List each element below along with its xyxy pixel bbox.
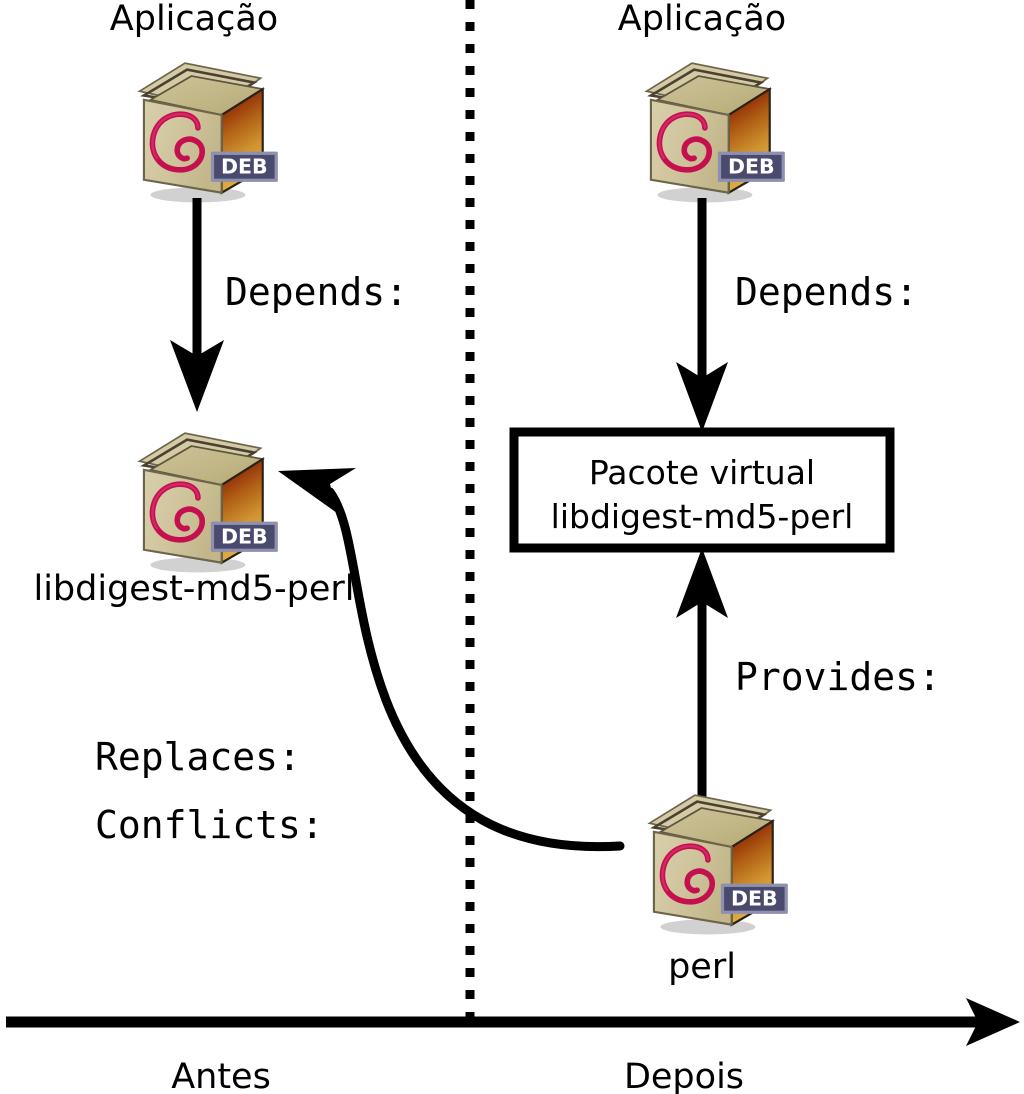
diagram-svg: DEB	[0, 0, 1024, 1094]
package-icon-app-before	[140, 63, 278, 202]
label-depends-after: Depends:	[735, 270, 918, 314]
label-depends-before: Depends:	[225, 270, 408, 314]
package-icon-app-after	[647, 63, 785, 202]
package-icon-libdigest-before	[140, 433, 278, 572]
arrow-depends-before	[170, 198, 224, 412]
label-timeline-before: Antes	[171, 1057, 271, 1094]
label-timeline-after: Depois	[624, 1057, 744, 1094]
diagram-canvas: DEB	[0, 0, 1024, 1094]
label-provides: Provides:	[735, 655, 941, 699]
arrow-provides	[676, 548, 728, 800]
timeline-axis	[6, 998, 1020, 1046]
label-virtual-package-line2: libdigest-md5-perl	[551, 497, 854, 536]
label-perl: perl	[668, 947, 736, 987]
label-application-before: Aplicação	[110, 0, 278, 39]
arrow-depends-after	[676, 198, 728, 432]
package-icon-perl	[650, 795, 788, 934]
label-application-after: Aplicação	[618, 0, 786, 39]
label-libdigest-md5-perl-before: libdigest-md5-perl	[33, 569, 354, 609]
label-replaces: Replaces:	[95, 735, 301, 779]
label-conflicts: Conflicts:	[95, 803, 324, 847]
label-virtual-package-line1: Pacote virtual	[589, 453, 815, 492]
